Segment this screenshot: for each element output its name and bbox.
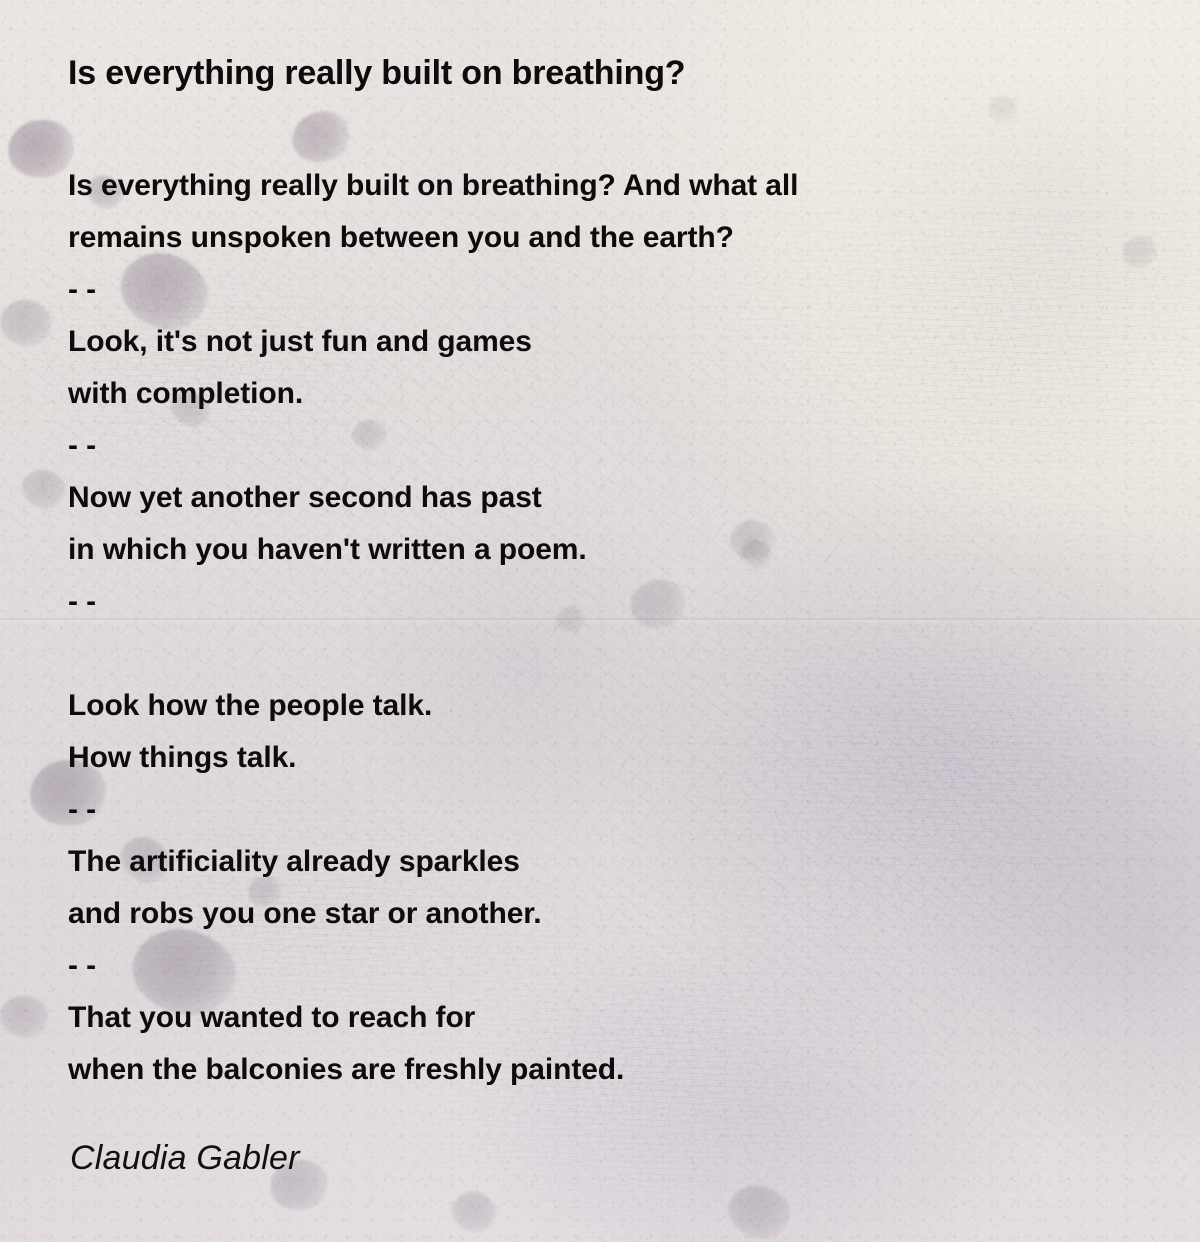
ink-blot <box>986 94 1020 125</box>
poem-line: - - <box>68 784 1128 836</box>
poem-page: Is everything really built on breathing?… <box>0 0 1200 1242</box>
ink-blot <box>0 297 55 350</box>
poem-line: The artificiality already sparkles <box>68 836 1128 888</box>
poem-line: - - <box>68 940 1128 992</box>
poem-line: remains unspoken between you and the ear… <box>68 212 1128 264</box>
poem-line: and robs you one star or another. <box>68 888 1128 940</box>
poem-line: in which you haven't written a poem. <box>68 524 1128 576</box>
poem-line: Now yet another second has past <box>68 472 1128 524</box>
poem-line: when the balconies are freshly painted. <box>68 1044 1128 1096</box>
ink-blot <box>0 994 50 1041</box>
poem-line: Look, it's not just fun and games <box>68 316 1128 368</box>
poem-line <box>68 628 1128 680</box>
ink-blot <box>18 465 70 513</box>
poem-line: Look how the people talk. <box>68 680 1128 732</box>
poem-line: - - <box>68 264 1128 316</box>
poem-line: That you wanted to reach for <box>68 992 1128 1044</box>
poem-line: with completion. <box>68 368 1128 420</box>
poem-author: Claudia Gabler <box>70 1136 300 1180</box>
ink-blot <box>722 1178 796 1242</box>
poem-body: Is everything really built on breathing?… <box>68 160 1128 1096</box>
poem-title: Is everything really built on breathing? <box>68 52 685 94</box>
poem-line: - - <box>68 576 1128 628</box>
poem-line: - - <box>68 420 1128 472</box>
ink-blot <box>446 1186 501 1239</box>
poem-line: Is everything really built on breathing?… <box>68 160 1128 212</box>
poem-line: How things talk. <box>68 732 1128 784</box>
